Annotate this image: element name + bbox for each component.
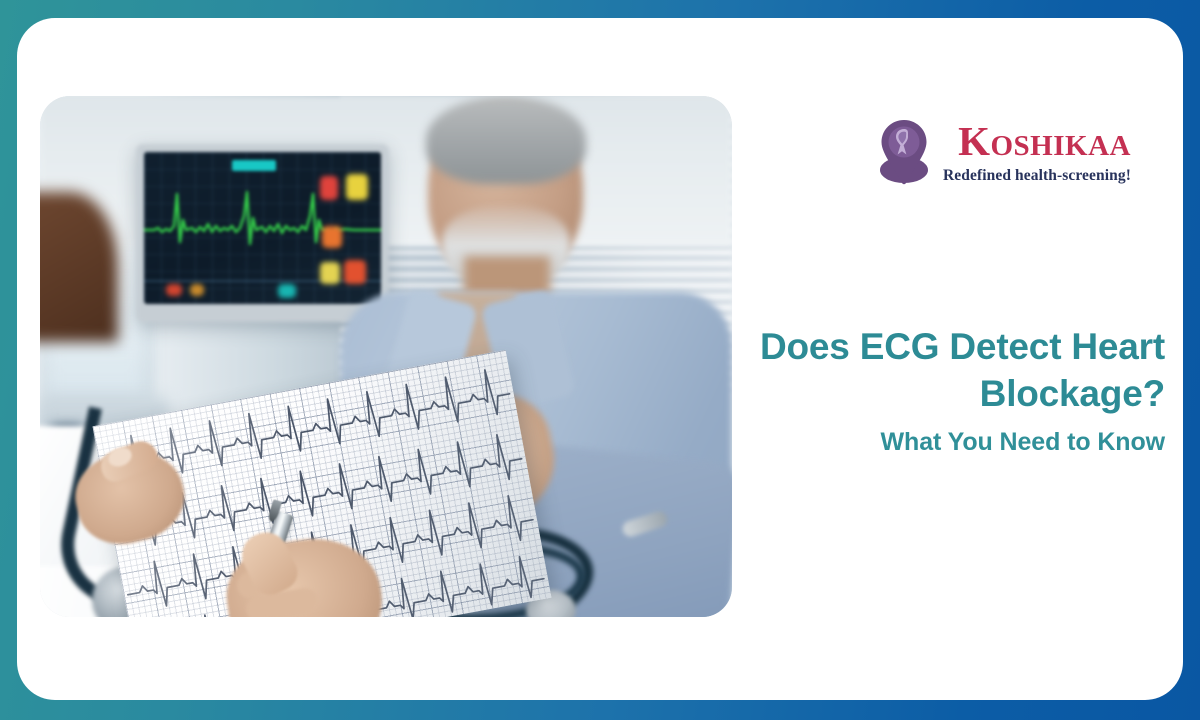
monitor-status-red (166, 284, 182, 296)
ecg-monitor-screen (144, 152, 381, 304)
hero-photo (40, 96, 732, 617)
monitor-indicator-yellow-2 (320, 262, 340, 284)
monitor-indicator-red (320, 176, 338, 200)
location-pin-ribbon-icon (875, 117, 933, 187)
page-title: Does ECG Detect Heart Blockage? (725, 323, 1165, 418)
monitor-label-bar (232, 160, 276, 171)
headline-block: Does ECG Detect Heart Blockage? What You… (725, 323, 1165, 457)
monitor-status-cyan (278, 284, 296, 298)
banner-root: Koshikaa Redefined health-screening! Doe… (0, 0, 1200, 720)
monitor-indicator-orange-2 (344, 260, 366, 284)
white-card: Koshikaa Redefined health-screening! Doe… (17, 18, 1183, 700)
patient-hair (426, 96, 586, 184)
monitor-indicator-yellow (346, 174, 368, 200)
page-subtitle: What You Need to Know (725, 427, 1165, 457)
logo-tagline: Redefined health-screening! (943, 168, 1131, 184)
logo-wordmark: Koshikaa (958, 121, 1131, 162)
brand-logo[interactable]: Koshikaa Redefined health-screening! (875, 113, 1183, 191)
monitor-status-amber (190, 284, 204, 296)
monitor-indicator-orange (322, 226, 342, 248)
logo-text-block: Koshikaa Redefined health-screening! (943, 121, 1131, 184)
